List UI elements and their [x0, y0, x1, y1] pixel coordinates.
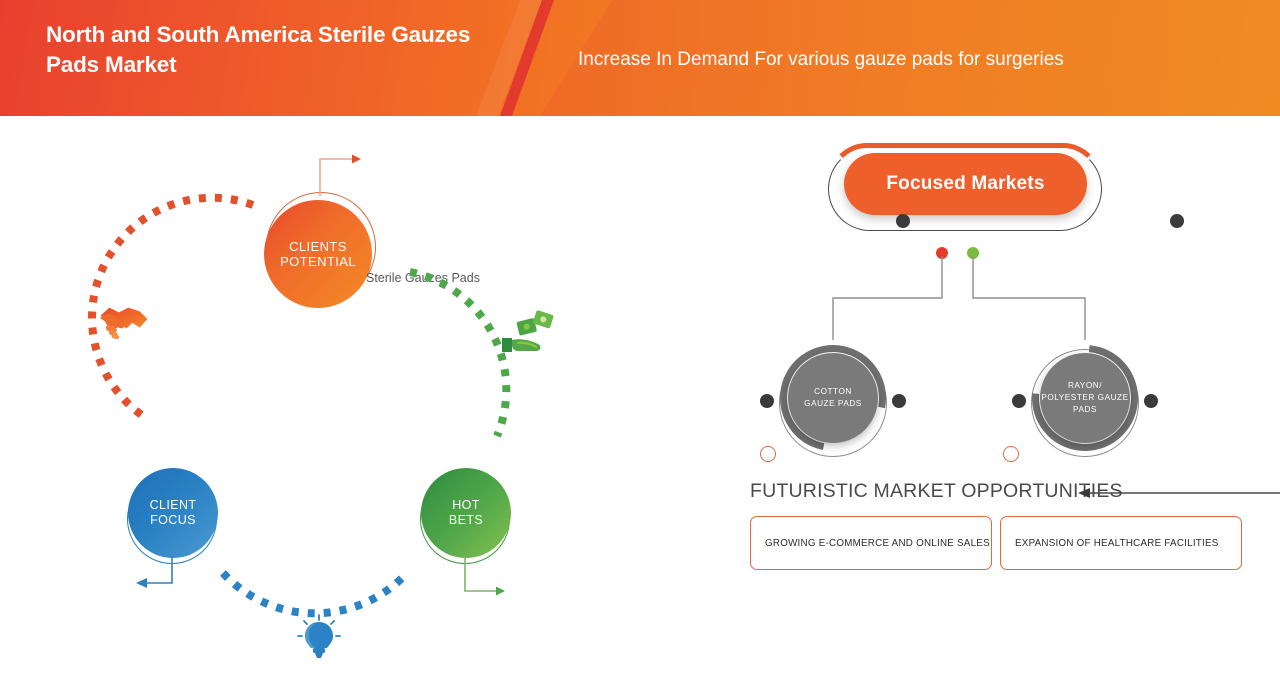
node-left-dot	[1012, 394, 1026, 408]
node-circle: RAYON/ POLYESTER GAUZE PADS	[1040, 353, 1130, 443]
opportunity-marker-1	[760, 446, 776, 462]
node-hot-bets[interactable]: HOT BETS	[420, 468, 512, 564]
focused-markets-right-dot	[1170, 214, 1184, 228]
focused-markets-group[interactable]: Focused Markets	[810, 143, 1120, 229]
node-label-line2: GAUZE PADS	[804, 398, 862, 410]
node-label-line1: HOT	[449, 498, 483, 513]
node-label-line2: POTENTIAL	[280, 254, 356, 269]
node-left-dot	[760, 394, 774, 408]
focused-markets-label: Focused Markets	[886, 173, 1044, 195]
node-circle: CLIENTS POTENTIAL	[264, 200, 372, 308]
opportunity-marker-2	[1003, 446, 1019, 462]
node-label-line1: CLIENTS	[280, 239, 356, 254]
node-label-line1: RAYON/	[1041, 380, 1128, 392]
node-label-line2: BETS	[449, 513, 483, 528]
opportunity-label: GROWING E-COMMERCE AND ONLINE SALES	[751, 538, 990, 549]
node-label-line1: CLIENT	[150, 498, 197, 513]
node-circle: COTTON GAUZE PADS	[788, 353, 878, 443]
page-subtitle: Increase In Demand For various gauze pad…	[578, 48, 1218, 73]
node-client-focus[interactable]: CLIENT FOCUS	[127, 468, 219, 564]
node-label-line2: POLYESTER GAUZE	[1041, 392, 1128, 404]
node-clients-potential[interactable]: CLIENTS POTENTIAL	[264, 196, 376, 308]
infographic-root: North and South America Sterile Gauzes P…	[0, 0, 1280, 680]
focused-markets-pill[interactable]: Focused Markets	[844, 153, 1087, 215]
node-right-dot	[892, 394, 906, 408]
node-label-line3: PADS	[1041, 404, 1128, 416]
node-circle: CLIENT FOCUS	[128, 468, 218, 558]
focused-markets-left-dot	[896, 214, 910, 228]
green-dot	[967, 247, 979, 259]
node-rayon-polyester-gauze-pads[interactable]: RAYON/ POLYESTER GAUZE PADS	[1040, 353, 1130, 443]
page-header: North and South America Sterile Gauzes P…	[0, 0, 1280, 116]
opportunity-box-1[interactable]: GROWING E-COMMERCE AND ONLINE SALES	[750, 516, 992, 570]
right-diagram-panel: Focused Markets COTTON GAUZE PADS	[730, 116, 1280, 680]
opportunity-box-2[interactable]: EXPANSION OF HEALTHCARE FACILITIES	[1000, 516, 1242, 570]
node-right-dot	[1144, 394, 1158, 408]
node-cotton-gauze-pads[interactable]: COTTON GAUZE PADS	[788, 353, 878, 443]
node-label-line2: FOCUS	[150, 513, 197, 528]
red-dot	[936, 247, 948, 259]
page-title: North and South America Sterile Gauzes P…	[46, 20, 476, 80]
callout-sterile-gauzes-pads: Sterile Gauzes Pads	[366, 270, 480, 287]
node-circle: HOT BETS	[421, 468, 511, 558]
node-label-line1: COTTON	[804, 386, 862, 398]
futuristic-opportunities-title: FUTURISTIC MARKET OPPORTUNITIES	[750, 480, 1123, 503]
opportunity-label: EXPANSION OF HEALTHCARE FACILITIES	[1001, 538, 1219, 549]
left-diagram-panel: CLIENTS POTENTIAL CLIENT FOCUS HOT BETS	[0, 116, 730, 680]
